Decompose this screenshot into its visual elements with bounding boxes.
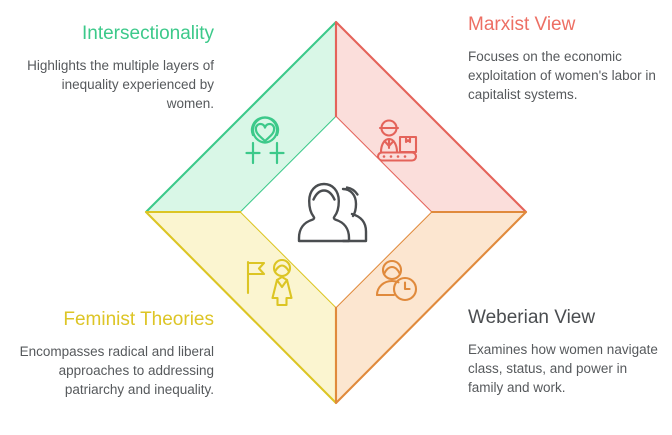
label-marxist-view: Marxist View Focuses on the economic exp… xyxy=(468,13,658,104)
label-intersectionality: Intersectionality Highlights the multipl… xyxy=(14,22,214,113)
label-intersectionality-title: Intersectionality xyxy=(14,22,214,45)
diagram-canvas: Intersectionality Highlights the multipl… xyxy=(0,0,672,435)
label-marxist-view-title: Marxist View xyxy=(468,13,658,36)
label-weberian-view: Weberian View Examines how women navigat… xyxy=(468,306,664,397)
label-weberian-view-title: Weberian View xyxy=(468,306,664,329)
label-weberian-view-body: Examines how women navigate class, statu… xyxy=(468,340,664,397)
label-marxist-view-body: Focuses on the economic exploitation of … xyxy=(468,47,658,104)
label-feminist-theories-title: Feminist Theories xyxy=(8,308,214,331)
label-intersectionality-body: Highlights the multiple layers of inequa… xyxy=(14,56,214,113)
label-feminist-theories: Feminist Theories Encompasses radical an… xyxy=(8,308,214,399)
label-feminist-theories-body: Encompasses radical and liberal approach… xyxy=(8,342,214,399)
